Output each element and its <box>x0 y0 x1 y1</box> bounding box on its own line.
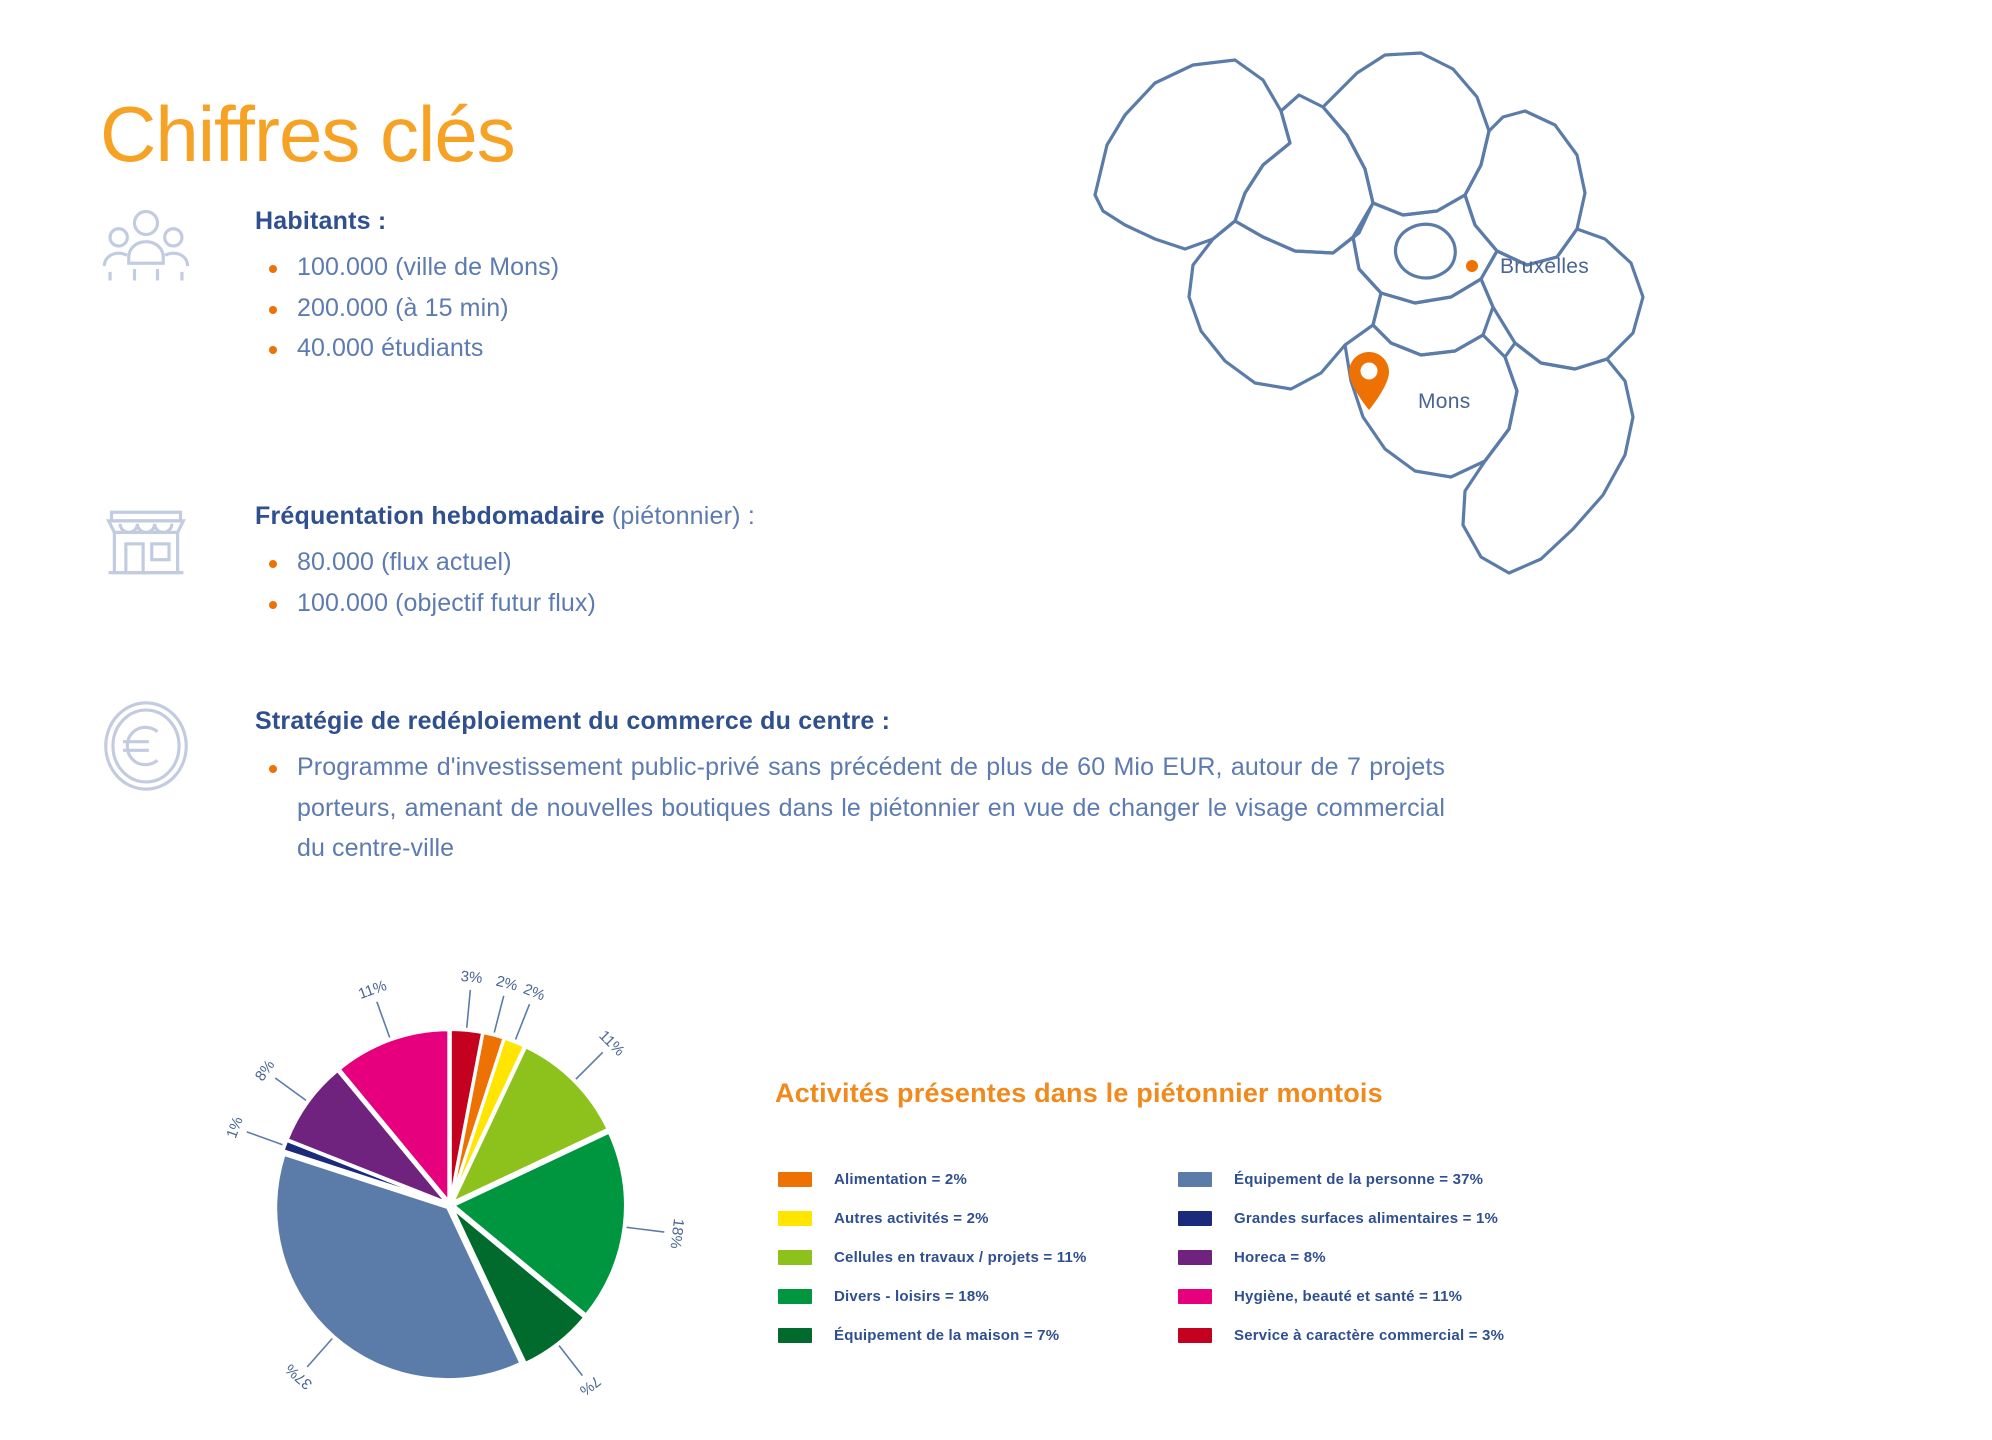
legend-label: Autres activités = 2% <box>834 1210 989 1227</box>
legend-item[interactable]: Équipement de la maison = 7% <box>778 1316 1178 1355</box>
legend-item[interactable]: Divers - loisirs = 18% <box>778 1277 1178 1316</box>
legend-label: Hygiène, beauté et santé = 11% <box>1234 1288 1462 1305</box>
heading-main: Stratégie de redéploiement du commerce d… <box>255 707 890 735</box>
pie-slice-label: 37% <box>282 1360 316 1393</box>
legend-label: Divers - loisirs = 18% <box>834 1288 989 1305</box>
dot-marker-icon <box>1464 258 1480 274</box>
pie-leader-line <box>576 1052 603 1079</box>
pie-leader-line <box>494 996 503 1033</box>
legend-swatch <box>778 1328 812 1343</box>
legend-label: Service à caractère commercial = 3% <box>1234 1327 1504 1344</box>
pie-leader-line <box>307 1339 332 1368</box>
legend-label: Alimentation = 2% <box>834 1171 967 1188</box>
legend-item[interactable]: Cellules en travaux / projets = 11% <box>778 1238 1178 1277</box>
list-item: Programme d'investissement public-privé … <box>255 747 1445 869</box>
legend-label: Horeca = 8% <box>1234 1249 1326 1266</box>
legend-swatch <box>1178 1289 1212 1304</box>
legend-item[interactable]: Alimentation = 2% <box>778 1160 1178 1199</box>
key-figure-heading: Stratégie de redéploiement du commerce d… <box>255 706 1445 737</box>
legend-swatch <box>1178 1211 1212 1226</box>
pie-slice-label: 8% <box>252 1057 279 1085</box>
pie-slice-label: 2% <box>494 973 519 995</box>
pie-leader-line <box>377 1002 390 1038</box>
chart-legend: Alimentation = 2%Équipement de la person… <box>778 1160 1678 1355</box>
pie-leader-line <box>467 990 471 1028</box>
pie-slice-label: 1% <box>223 1115 246 1141</box>
legend-swatch <box>1178 1250 1212 1265</box>
legend-label: Cellules en travaux / projets = 11% <box>834 1249 1087 1266</box>
heading-main: Habitants : <box>255 207 386 235</box>
key-figure-list: Programme d'investissement public-privé … <box>255 747 1445 869</box>
pie-leader-line <box>275 1078 306 1100</box>
page-title: Chiffres clés <box>100 95 515 173</box>
slide-root: Chiffres clés Habitants : 100.000 (ville… <box>0 0 1992 1440</box>
legend-item[interactable]: Équipement de la personne = 37% <box>1178 1160 1578 1199</box>
pie-chart-svg: 3%2%2%11%18%7%37%1%8%11% <box>225 955 695 1415</box>
heading-main: Fréquentation hebdomadaire <box>255 502 605 530</box>
pie-slice-label: 2% <box>521 981 547 1005</box>
belgium-map <box>1085 25 1965 605</box>
legend-item[interactable]: Service à caractère commercial = 3% <box>1178 1316 1578 1355</box>
legend-label: Équipement de la personne = 37% <box>1234 1171 1483 1188</box>
legend-swatch <box>778 1250 812 1265</box>
legend-item[interactable]: Hygiène, beauté et santé = 11% <box>1178 1277 1578 1316</box>
legend-swatch <box>1178 1328 1212 1343</box>
pie-slice-label: 7% <box>576 1372 604 1399</box>
pie-leader-line <box>559 1346 582 1376</box>
euro-coin-icon <box>100 700 192 792</box>
map-city-label-bruxelles: Bruxelles <box>1500 255 1589 279</box>
heading-soft: (piétonnier) : <box>612 502 755 530</box>
pie-chart: 3%2%2%11%18%7%37%1%8%11% <box>225 955 695 1415</box>
chart-title: Activités présentes dans le piétonnier m… <box>775 1078 1383 1109</box>
pie-leader-line <box>516 1004 530 1039</box>
people-group-icon <box>100 200 192 292</box>
map-city-label-mons: Mons <box>1418 390 1471 414</box>
pie-leader-line <box>627 1227 665 1232</box>
pie-slice-label: 11% <box>356 977 389 1003</box>
legend-swatch <box>778 1172 812 1187</box>
pie-slice-label: 3% <box>460 968 483 987</box>
pie-slice-label: 18% <box>666 1218 687 1250</box>
legend-label: Équipement de la maison = 7% <box>834 1327 1059 1344</box>
legend-item[interactable]: Horeca = 8% <box>1178 1238 1578 1277</box>
pie-leader-line <box>247 1132 283 1145</box>
legend-item[interactable]: Grandes surfaces alimentaires = 1% <box>1178 1199 1578 1238</box>
legend-swatch <box>778 1289 812 1304</box>
legend-swatch <box>778 1211 812 1226</box>
legend-item[interactable]: Autres activités = 2% <box>778 1199 1178 1238</box>
storefront-icon <box>100 495 192 587</box>
legend-swatch <box>1178 1172 1212 1187</box>
map-pin-icon <box>1346 350 1392 412</box>
legend-label: Grandes surfaces alimentaires = 1% <box>1234 1210 1498 1227</box>
